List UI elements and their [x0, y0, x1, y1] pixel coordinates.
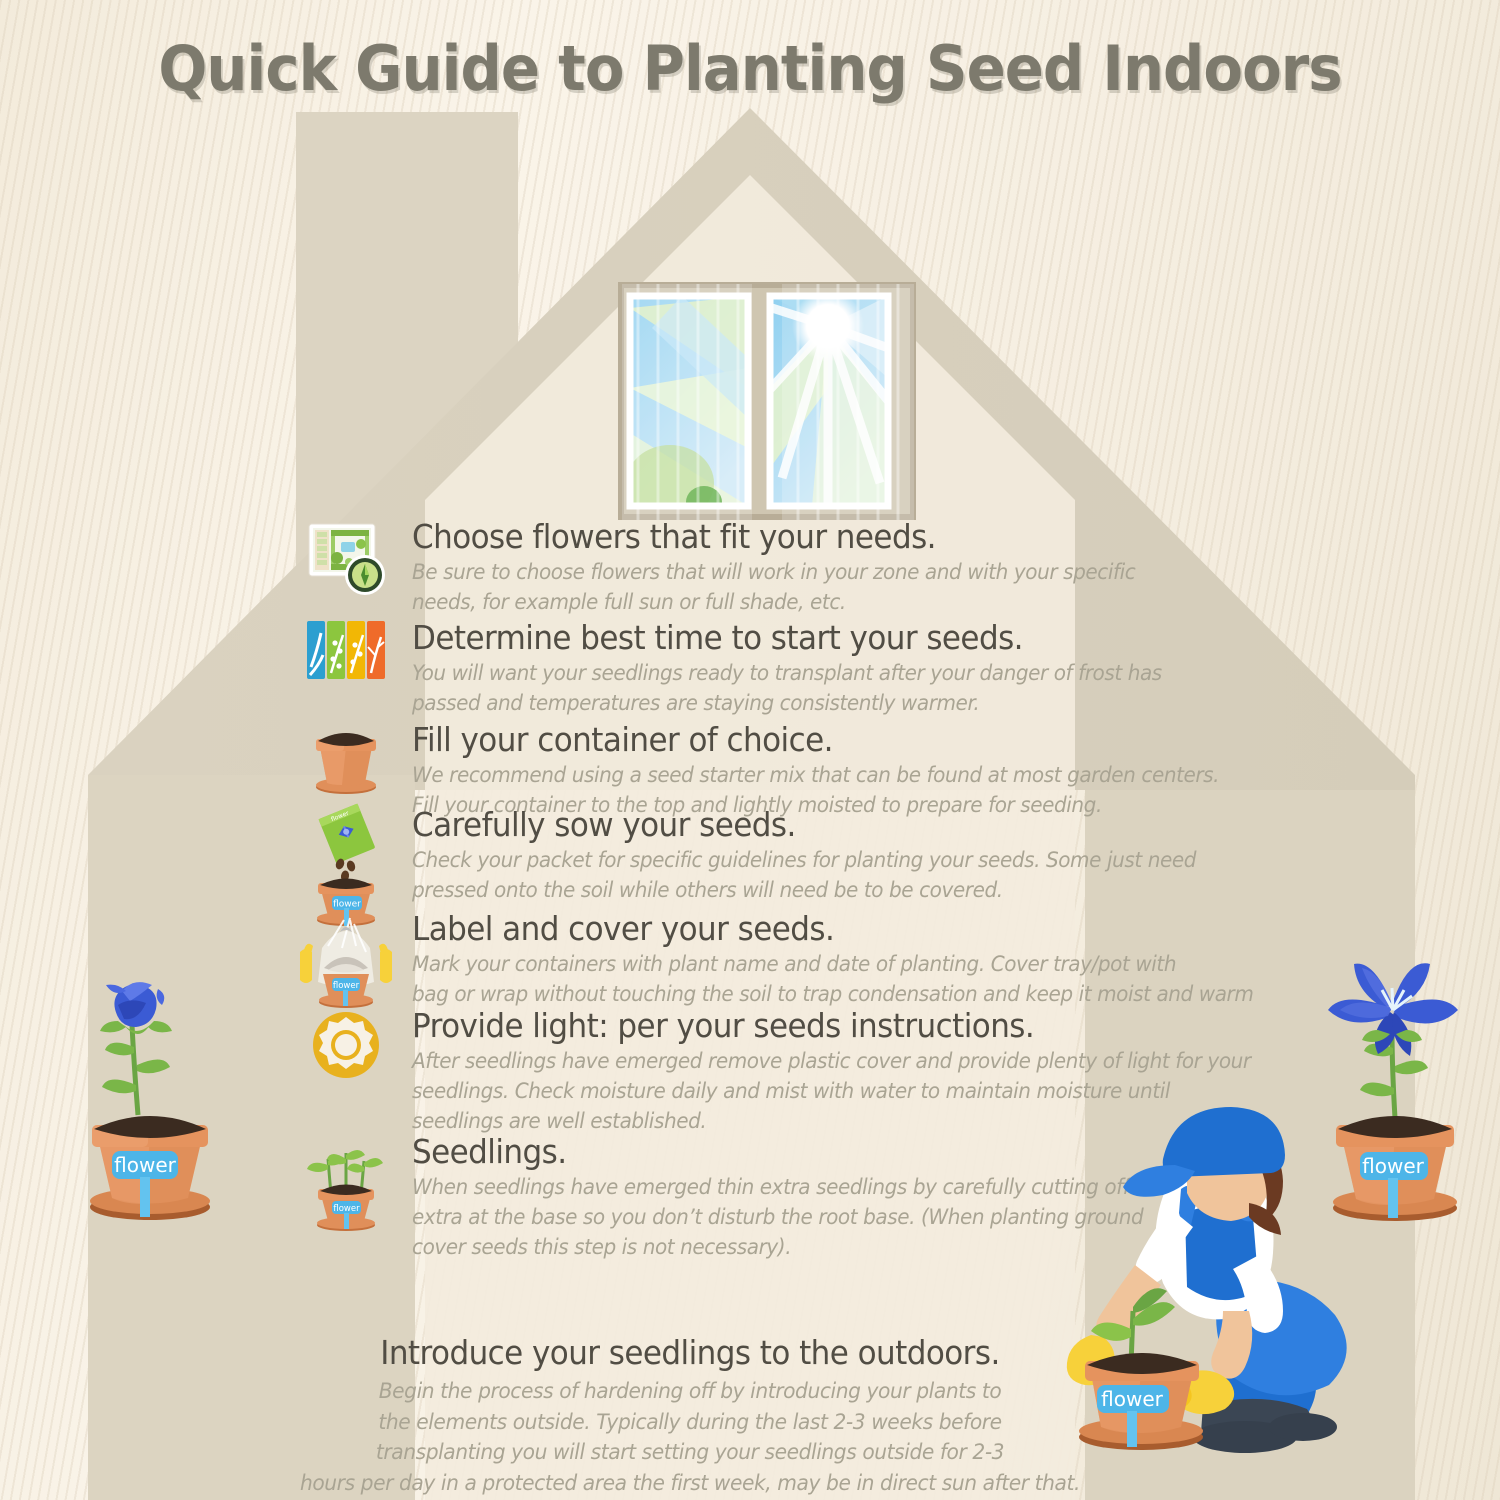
step-item: Determine best time to start your seeds.… — [300, 621, 1218, 719]
step-body-line: We recommend using a seed starter mix th… — [412, 761, 1219, 791]
step-body: Be sure to choose flowers that will work… — [412, 558, 1135, 618]
step-text: Label and cover your seeds. Mark your co… — [412, 912, 1317, 1010]
glove-right — [379, 944, 392, 983]
pot-label-text: flower — [333, 981, 360, 991]
pot-label-text: flower — [114, 1153, 176, 1177]
pot-label-text: flower — [333, 900, 361, 910]
step-heading: Fill your container of choice. — [412, 723, 1228, 758]
outro-body-line: Begin the process of hardening off by in… — [276, 1377, 1103, 1408]
pot-label-text: flower — [333, 1204, 360, 1214]
infographic-canvas: Quick Guide to Planting Seed Indoors — [0, 0, 1500, 1500]
seed-packet: flower — [318, 804, 375, 864]
glove-left — [300, 944, 313, 983]
window-illustration — [612, 268, 922, 526]
left-potted-flower: flower — [60, 955, 240, 1230]
sun-light-icon — [300, 1009, 392, 1081]
covered-pot-gloves-icon: flower — [300, 912, 392, 1008]
outro-body-line: hours per day in a protected area the fi… — [276, 1469, 1103, 1500]
compass-icon — [345, 555, 385, 595]
garden-plan-compass-icon — [300, 520, 392, 596]
falling-seeds — [334, 857, 356, 882]
step-body-line: After seedlings have emerged remove plas… — [412, 1047, 1251, 1077]
step-text: Choose flowers that fit your needs. Be s… — [412, 520, 1190, 618]
step-item: flower Label and cover your seeds. Mark … — [300, 912, 1317, 1010]
step-body-line: Check your packet for specific guideline… — [412, 846, 1196, 876]
step-body-line: Be sure to choose flowers that will work… — [412, 558, 1135, 588]
step-heading: Label and cover your seeds. — [412, 912, 1262, 947]
seedlings-pot-icon: flower — [300, 1135, 392, 1231]
outro-body: Begin the process of hardening off by in… — [276, 1377, 1103, 1499]
step-body-line: pressed onto the soil while others will … — [412, 876, 1196, 906]
step-text: Determine best time to start your seeds.… — [412, 621, 1218, 719]
blue-bud-flower — [106, 982, 164, 1027]
outro-block: Introduce your seedlings to the outdoors… — [250, 1333, 1130, 1499]
step-heading: Choose flowers that fit your needs. — [412, 520, 1143, 555]
step-heading: Determine best time to start your seeds. — [412, 621, 1170, 656]
seed-packet-sowing-icon: flower — [300, 808, 392, 926]
step-heading: Provide light: per your seeds instructio… — [412, 1009, 1260, 1044]
step-text: Carefully sow your seeds. Check your pac… — [412, 808, 1255, 906]
outro-body-line: transplanting you will start setting you… — [276, 1438, 1103, 1469]
step-body: You will want your seedlings ready to tr… — [412, 659, 1162, 719]
page-title: Quick Guide to Planting Seed Indoors — [53, 32, 1448, 105]
stem — [1392, 1030, 1395, 1118]
outro-body-line: the elements outside. Typically during t… — [276, 1408, 1103, 1439]
four-seasons-icon — [300, 621, 392, 679]
step-body-line: You will want your seedlings ready to tr… — [412, 659, 1162, 689]
step-item: flower — [300, 808, 1255, 906]
step-body-line: passed and temperatures are staying cons… — [412, 689, 1162, 719]
step-heading: Carefully sow your seeds. — [412, 808, 1204, 843]
filled-pot-icon — [300, 723, 392, 795]
outro-heading: Introduce your seedlings to the outdoors… — [276, 1333, 1103, 1372]
step-body-line: needs, for example full sun or full shad… — [412, 588, 1135, 618]
step-body: Check your packet for specific guideline… — [412, 846, 1196, 906]
cap — [1163, 1107, 1285, 1177]
step-body-line: Mark your containers with plant name and… — [412, 950, 1253, 980]
step-item: Choose flowers that fit your needs. Be s… — [300, 520, 1190, 618]
step-body: Mark your containers with plant name and… — [412, 950, 1253, 1010]
